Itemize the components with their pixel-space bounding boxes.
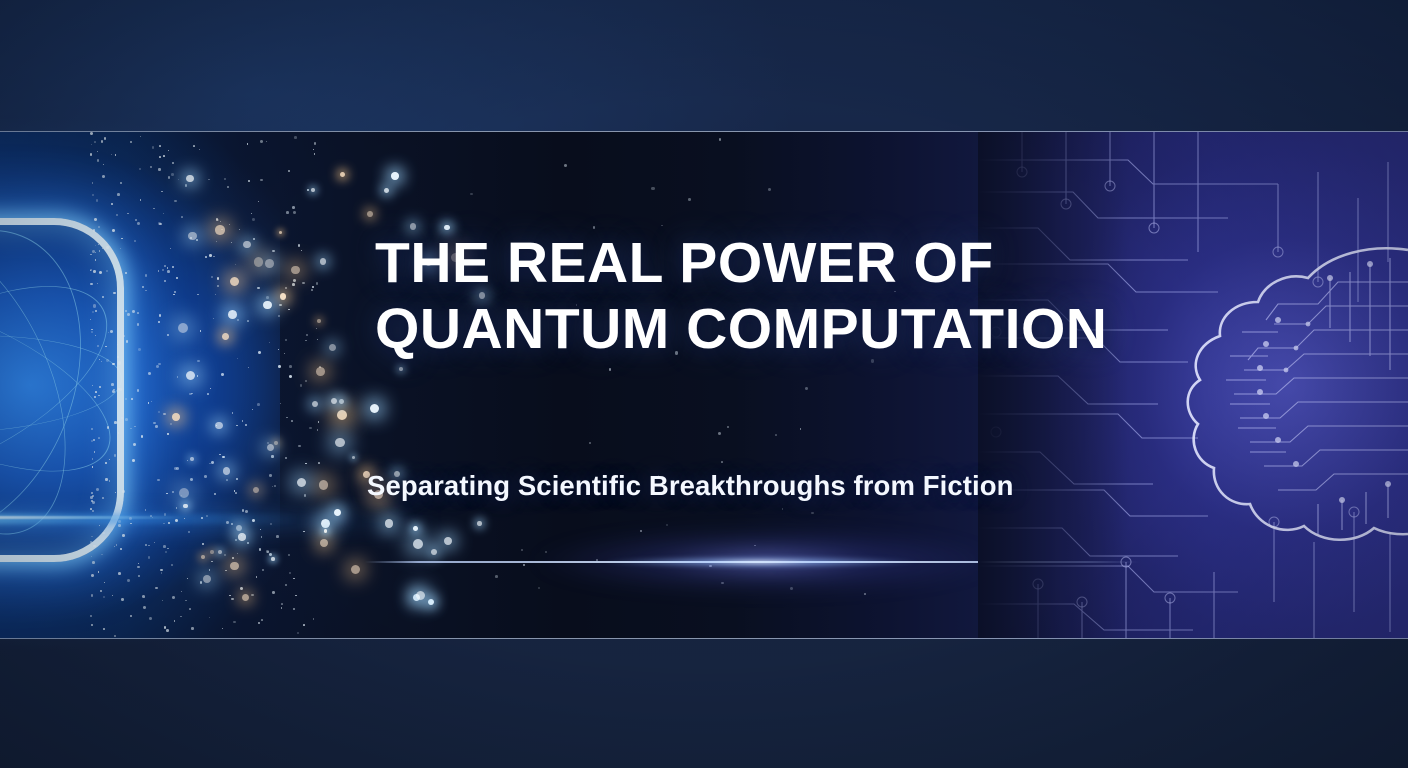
sparkle-dot xyxy=(305,380,307,382)
banner-subtitle: Separating Scientific Breakthroughs from… xyxy=(367,470,1147,502)
banner-copy: THE REAL POWER OF QUANTUM COMPUTATION Se… xyxy=(375,132,1155,638)
sparkle-dot xyxy=(313,149,314,150)
sparkle-dot xyxy=(316,328,317,329)
sparkle-dot xyxy=(303,624,305,626)
sparkle-dot xyxy=(295,595,296,596)
sparkle-dot xyxy=(300,384,303,387)
particle-dot xyxy=(340,172,345,177)
sparkle-dot xyxy=(298,244,301,247)
sparkle-dot xyxy=(285,339,287,341)
sparkle-dot xyxy=(304,494,306,496)
sparkle-dot xyxy=(306,334,308,336)
sparkle-dot xyxy=(292,206,295,209)
particle-dot xyxy=(312,401,318,407)
sparkle-dot xyxy=(289,365,292,368)
sparkle-dot xyxy=(307,189,309,191)
sparkle-dot xyxy=(317,429,319,431)
hero-banner: THE REAL POWER OF QUANTUM COMPUTATION Se… xyxy=(0,131,1408,639)
sparkle-dot xyxy=(292,283,295,286)
sparkle-dot xyxy=(297,632,299,634)
sparkle-dot xyxy=(319,366,321,368)
particle-dot xyxy=(320,258,326,264)
banner-title-line-2: QUANTUM COMPUTATION xyxy=(375,296,1155,362)
sparkle-dot xyxy=(312,286,314,288)
sparkle-dot xyxy=(288,170,290,172)
particle-dot xyxy=(291,266,300,275)
sparkle-dot xyxy=(281,607,283,609)
sparkle-dot xyxy=(309,427,311,429)
sparkle-dot xyxy=(288,309,290,311)
sparkle-dot xyxy=(302,282,304,284)
sparkle-dot xyxy=(284,353,285,354)
sparkle-dot xyxy=(293,279,296,282)
sparkle-dot xyxy=(316,282,319,285)
particle-dot xyxy=(311,188,315,192)
particle-dot xyxy=(317,319,321,323)
sparkle-dot xyxy=(289,375,292,378)
sparkle-dot xyxy=(286,211,289,214)
sparkle-dot xyxy=(317,339,319,341)
quantum-chip-graphic xyxy=(0,132,280,638)
particle-dot xyxy=(367,211,373,217)
particle-dot xyxy=(351,565,360,574)
sparkle-dot xyxy=(281,603,283,605)
sparkle-dot xyxy=(293,608,295,610)
particle-dot xyxy=(280,293,287,300)
sparkle-dot xyxy=(305,463,307,465)
sparkle-dot xyxy=(313,618,315,620)
sparkle-dot xyxy=(311,289,313,291)
particle-dot xyxy=(329,344,336,351)
sparkle-dot xyxy=(301,250,302,251)
sparkle-dot xyxy=(286,417,288,419)
sparkle-dot xyxy=(293,578,295,580)
sparkle-dot xyxy=(288,554,290,556)
sparkle-dot xyxy=(285,584,287,586)
sparkle-dot xyxy=(314,153,316,155)
sparkle-dot xyxy=(318,421,320,423)
sparkle-dot xyxy=(318,462,320,464)
particle-dot xyxy=(320,539,328,547)
sparkle-dot xyxy=(285,287,287,289)
particle-dot xyxy=(335,438,345,448)
sparkle-dot xyxy=(289,572,291,574)
sparkle-dot xyxy=(291,420,293,422)
banner-title-line-1: THE REAL POWER OF xyxy=(375,231,994,295)
sparkle-dot xyxy=(314,142,317,145)
sparkle-dot xyxy=(305,340,307,342)
particle-dot xyxy=(337,410,347,420)
particle-dot xyxy=(316,367,325,376)
sparkle-dot xyxy=(294,136,297,139)
particle-dot xyxy=(297,478,306,487)
sparkle-dot xyxy=(298,445,301,448)
sparkle-dot xyxy=(293,211,296,214)
sparkle-dot xyxy=(285,457,287,459)
banner-title: THE REAL POWER OF QUANTUM COMPUTATION xyxy=(375,230,1155,362)
page-backdrop: THE REAL POWER OF QUANTUM COMPUTATION Se… xyxy=(0,0,1408,768)
particle-dot xyxy=(331,398,337,404)
particle-dot xyxy=(319,480,328,489)
particle-dot xyxy=(352,456,355,459)
particle-dot xyxy=(339,399,344,404)
